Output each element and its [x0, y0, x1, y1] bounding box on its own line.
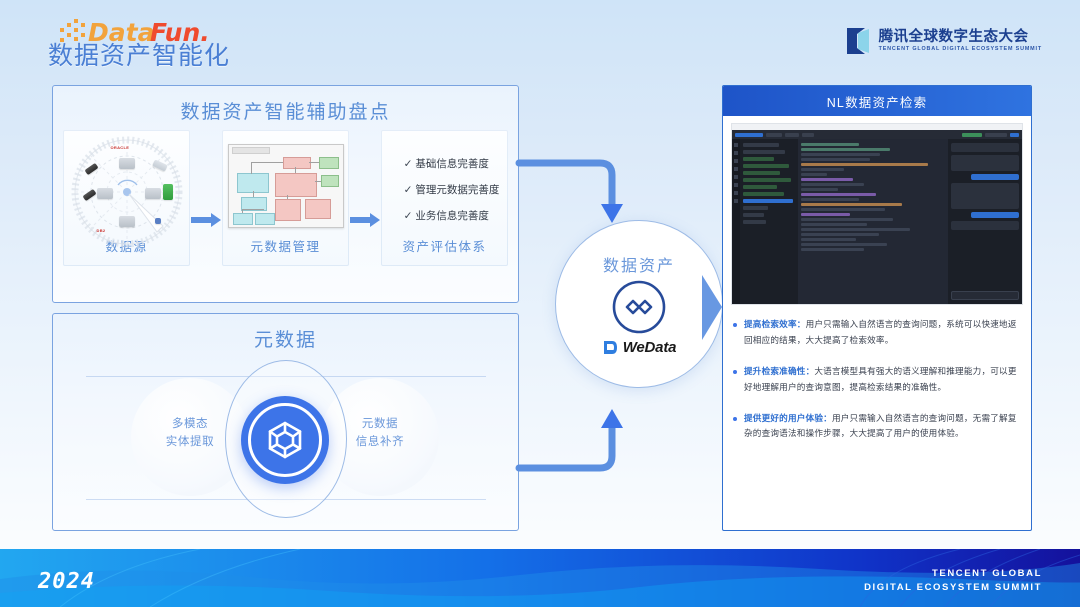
erd-box-10: [255, 213, 275, 225]
tree-row[interactable]: [743, 157, 774, 161]
rail-icon[interactable]: [734, 151, 738, 155]
wedata-d-icon: [602, 339, 619, 356]
metadata-title: 元数据: [53, 325, 518, 352]
code-line: [801, 193, 876, 196]
code-line: [801, 208, 885, 211]
center-hub-group: 数据资产 WeData: [522, 150, 742, 480]
checklist-item: ✓基础信息完善度: [404, 156, 489, 171]
rail-icon[interactable]: [734, 199, 738, 203]
hub-title: 数据资产: [603, 252, 675, 276]
check-icon: ✓: [404, 158, 413, 170]
wheel-node-1: [119, 158, 135, 169]
flow-arrow-2: [350, 213, 380, 232]
code-line: [801, 158, 870, 161]
tree-row[interactable]: [743, 164, 789, 168]
er-diagram-icon: [228, 144, 344, 228]
ide-nav-avatar: [1010, 133, 1019, 137]
chat-message-bot: [951, 155, 1019, 171]
venn-label-right-line2: 信息补齐: [320, 433, 440, 451]
footer-year: 2024: [38, 569, 95, 594]
venn-label-right-line1: 元数据: [320, 415, 440, 433]
ide-file-tree[interactable]: [740, 139, 798, 304]
code-line: [801, 183, 864, 186]
tree-row[interactable]: [743, 192, 784, 196]
code-line: [801, 233, 879, 236]
checklist-label: 管理元数据完善度: [415, 184, 499, 196]
metadata-card: 元数据 多模态 实体提取 元数据 信息补齐: [52, 313, 519, 531]
venn-label-left-line2: 实体提取: [130, 433, 250, 451]
nl-search-benefits: 提高检索效率：用户只需输入自然语言的查询问题，系统可以快速地返回相应的结果，大大…: [723, 305, 1031, 442]
wheel-node-5: [145, 188, 161, 199]
venn-label-left-line1: 多模态: [130, 415, 250, 433]
ide-nav-item: [802, 133, 814, 137]
ide-code-editor[interactable]: [798, 139, 948, 304]
erd-link-5: [315, 181, 321, 182]
ide-mock: [732, 124, 1022, 304]
sponsor-name-en: TENCENT GLOBAL DIGITAL ECOSYSTEM SUMMIT: [879, 47, 1042, 52]
benefit-item: 提高检索效率：用户只需输入自然语言的查询问题，系统可以快速地返回相应的结果，大大…: [733, 317, 1018, 349]
slide-footer: 2024 TENCENT GLOBAL DIGITAL ECOSYSTEM SU…: [0, 549, 1080, 607]
benefit-sep: ：: [797, 319, 806, 329]
bullet-dot-icon: [733, 370, 737, 374]
benefit-item: 提供更好的用户体验：用户只需输入自然语言的查询问题，无需了解复杂的查询语法和操作…: [733, 411, 1018, 443]
sponsor-name-cn: 腾讯全球数字生态大会: [879, 30, 1042, 45]
code-line: [801, 203, 902, 206]
venn-label-left: 多模态 实体提取: [130, 415, 250, 451]
ide-navbar: [732, 130, 1022, 139]
tree-row[interactable]: [743, 150, 785, 154]
check-icon: ✓: [404, 184, 413, 196]
erd-link-7: [287, 195, 288, 199]
benefit-text: 提升检索准确性：大语言模型具有强大的语义理解和推理能力，可以更好地理解用户的查询…: [744, 364, 1018, 396]
wheel-label-oracle: ORACLE: [111, 145, 130, 150]
erd-titlebar: [232, 147, 270, 154]
tree-row-selected[interactable]: [743, 199, 793, 203]
wheel-node-4: [163, 184, 173, 200]
inventory-flow: ORACLE DB2 数据源: [53, 124, 518, 266]
checklist-label: 基础信息完善度: [415, 158, 489, 170]
ide-chat-panel[interactable]: [948, 139, 1022, 304]
flow-step-data-source: ORACLE DB2 数据源: [63, 130, 190, 266]
metadata-venn: 多模态 实体提取 元数据 信息补齐: [53, 352, 518, 520]
erd-link-4: [295, 167, 296, 173]
erd-box-9: [233, 213, 253, 225]
rail-icon[interactable]: [734, 143, 738, 147]
code-line: [801, 148, 890, 151]
code-line: [801, 153, 880, 156]
wedata-name: WeData: [623, 339, 677, 356]
footer-brand: TENCENT GLOBAL DIGITAL ECOSYSTEM SUMMIT: [864, 567, 1042, 595]
code-line: [801, 173, 827, 176]
erd-box-8: [305, 199, 331, 219]
wheel-node-6: [97, 188, 113, 199]
bullet-dot-icon: [733, 417, 737, 421]
tencent-mark-icon: [845, 26, 871, 56]
chat-message-bot: [951, 221, 1019, 230]
code-line: [801, 248, 864, 251]
chat-message-bot: [951, 143, 1019, 152]
erd-box-4: [237, 173, 269, 193]
nl-search-screenshot: [731, 123, 1023, 305]
tree-row[interactable]: [743, 178, 791, 182]
tree-row[interactable]: [743, 143, 779, 147]
wheel-label-db2: DB2: [97, 228, 106, 233]
erd-box-7: [275, 199, 301, 221]
slide-canvas: Data Fun. 数据资产智能化 腾讯全球数字生态大会 TENCENT GLO…: [0, 0, 1080, 607]
code-line: [801, 238, 856, 241]
tencent-summit-logo: 腾讯全球数字生态大会 TENCENT GLOBAL DIGITAL ECOSYS…: [845, 26, 1042, 56]
benefit-text: 提高检索效率：用户只需输入自然语言的查询问题，系统可以快速地返回相应的结果，大大…: [744, 317, 1018, 349]
ide-nav-status: [962, 133, 982, 137]
footer-line-2: DIGITAL ECOSYSTEM SUMMIT: [864, 581, 1042, 595]
benefit-text: 提供更好的用户体验：用户只需输入自然语言的查询问题，无需了解复杂的查询语法和操作…: [744, 411, 1018, 443]
chat-message-bot: [951, 183, 1019, 209]
chat-message-user: [971, 212, 1019, 218]
nl-search-card: NL数据资产检索: [722, 85, 1032, 531]
rail-icon[interactable]: [734, 183, 738, 187]
wheel-node-8: [119, 216, 135, 227]
benefit-lead: 提高检索效率: [744, 319, 797, 329]
code-line: [801, 223, 867, 226]
code-line: [801, 168, 844, 171]
footer-line-1: TENCENT GLOBAL: [864, 567, 1042, 581]
flow-step-metadata-mgmt: 元数据管理: [222, 130, 349, 266]
tree-row[interactable]: [743, 171, 780, 175]
venn-label-right: 元数据 信息补齐: [320, 415, 440, 451]
core-ring: [248, 403, 322, 477]
code-line: [801, 213, 850, 216]
data-source-wheel-icon: ORACLE DB2: [71, 136, 183, 236]
erd-box-3: [321, 175, 339, 187]
erd-link-2: [251, 162, 252, 174]
flow-label-metadata-mgmt: 元数据管理: [250, 236, 320, 255]
rail-icon[interactable]: [734, 191, 738, 195]
ide-nav-item: [766, 133, 782, 137]
code-line: [801, 188, 838, 191]
benefit-lead: 提供更好的用户体验: [744, 413, 823, 423]
rail-icon[interactable]: [734, 159, 738, 163]
erd-box-1: [283, 157, 311, 169]
tree-row[interactable]: [743, 185, 777, 189]
flow-arrow-1: [191, 213, 221, 232]
benefit-sep: ：: [823, 413, 832, 423]
code-line: [801, 198, 859, 201]
nl-search-header: NL数据资产检索: [723, 86, 1031, 116]
erd-box-5: [275, 173, 317, 197]
checklist-item: ✓业务信息完善度: [404, 208, 489, 223]
ide-nav-item: [985, 133, 1007, 137]
erd-link-9: [242, 209, 264, 210]
code-line: [801, 178, 853, 181]
chat-message-user: [971, 174, 1019, 180]
metadata-core-badge: [241, 396, 329, 484]
assessment-checklist: ✓基础信息完善度 ✓管理元数据完善度 ✓业务信息完善度: [390, 156, 500, 223]
page-title: 数据资产智能化: [48, 36, 230, 72]
rail-icon[interactable]: [734, 175, 738, 179]
ide-activity-rail: [732, 139, 740, 304]
wedata-brand: WeData: [602, 339, 677, 356]
erd-link-6: [253, 191, 254, 197]
flow-step-assessment: ✓基础信息完善度 ✓管理元数据完善度 ✓业务信息完善度 资产评估体系: [381, 130, 508, 266]
ide-nav-logo: [735, 133, 763, 137]
nl-search-title: NL数据资产检索: [827, 92, 928, 111]
flow-label-assessment: 资产评估体系: [402, 236, 486, 255]
tree-row[interactable]: [743, 213, 764, 217]
wheel-node-9: [155, 218, 161, 224]
asset-inventory-card: 数据资产智能辅助盘点: [52, 85, 519, 303]
erd-link-1: [251, 162, 283, 163]
checklist-item: ✓管理元数据完善度: [404, 182, 500, 197]
asset-inventory-title: 数据资产智能辅助盘点: [53, 97, 518, 124]
erd-link-3: [309, 162, 319, 163]
erd-box-2: [319, 157, 339, 169]
data-asset-hub: 数据资产 WeData: [555, 220, 723, 388]
code-line: [801, 218, 893, 221]
tree-row[interactable]: [743, 206, 768, 210]
code-line: [801, 243, 887, 246]
cube-3d-icon: [264, 419, 306, 461]
check-icon: ✓: [404, 210, 413, 222]
code-line: [801, 228, 910, 231]
benefit-item: 提升检索准确性：大语言模型具有强大的语义理解和推理能力，可以更好地理解用户的查询…: [733, 364, 1018, 396]
code-line: [801, 143, 859, 146]
bullet-dot-icon: [733, 323, 737, 327]
benefit-lead: 提升检索准确性: [744, 366, 806, 376]
ide-body: [732, 139, 1022, 304]
tree-row[interactable]: [743, 220, 766, 224]
ide-nav-item: [785, 133, 799, 137]
code-line: [801, 163, 928, 166]
checklist-label: 业务信息完善度: [415, 210, 489, 222]
rail-icon[interactable]: [734, 167, 738, 171]
chat-input[interactable]: [951, 291, 1019, 300]
wedata-diamond-icon: [610, 278, 668, 336]
